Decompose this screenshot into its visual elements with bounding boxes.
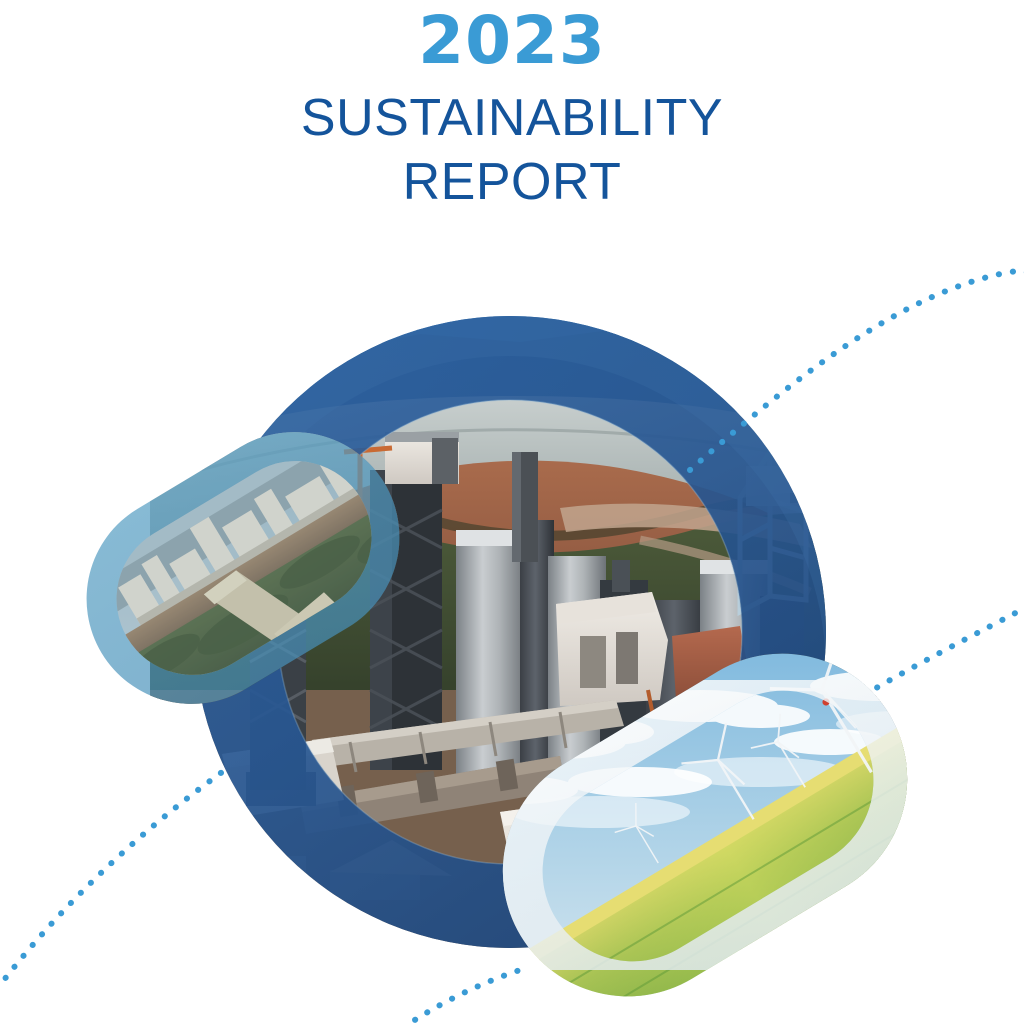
dotted-curves-front xyxy=(0,0,1024,1024)
report-cover: 2023 SUSTAINABILITY REPORT xyxy=(0,0,1024,1024)
dotted-curve-upper-right xyxy=(690,271,1024,470)
cover-artwork xyxy=(0,0,1024,1024)
